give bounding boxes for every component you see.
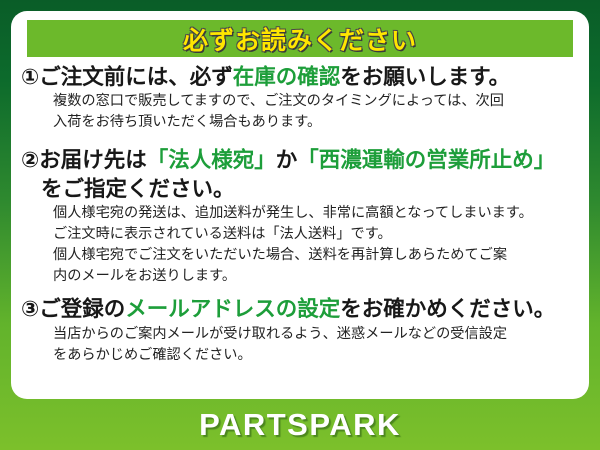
item-2-heading: ②お届け先は「法人様宛」か「西濃運輸の営業所止め」 — [11, 146, 589, 174]
notice-content: ①ご注文前には、必ず在庫の確認をお願いします。 複数の窓口で販売してますので、ご… — [11, 63, 589, 366]
notice-item-2: ②お届け先は「法人様宛」か「西濃運輸の営業所止め」 をご指定ください。 個人様宅… — [11, 146, 589, 286]
item-2-body-line-1: 個人様宅宛の発送は、追加送料が発生し、非常に高額となってしまいます。 — [11, 203, 589, 224]
item-3-heading-highlight: メールアドレスの設定 — [125, 297, 340, 321]
spacer-1 — [11, 133, 589, 146]
item-1-heading-part-1: ①ご注文前には、必ず — [21, 65, 233, 89]
item-2-heading-highlight-1: 「法人様宛」 — [147, 148, 276, 172]
spacer-2 — [11, 286, 589, 295]
item-2-heading-part-1: ②お届け先は — [21, 148, 147, 172]
notice-banner: 必ずお読みください ①ご注文前には、必ず在庫の確認をお願いします。 複数の窓口で… — [0, 0, 600, 450]
item-2-body-line-4: 内のメールをお送りします。 — [11, 266, 589, 287]
item-1-body-line-2: 入荷をお待ち頂いただく場合もあります。 — [11, 112, 589, 133]
footer-logo-area: PARTSPARK — [0, 399, 600, 450]
item-2-body-line-2: ご注文時に表示されている送料は「法人送料」です。 — [11, 224, 589, 245]
item-3-heading-part-3: をお確かめください。 — [340, 297, 555, 321]
item-1-body-line-1: 複数の窓口で販売してますので、ご注文のタイミングによっては、次回 — [11, 91, 589, 112]
item-1-heading-part-3: をお願いします。 — [340, 65, 510, 89]
item-3-body-line-2: をあらかじめご確認ください。 — [11, 345, 589, 366]
partspark-logo: PARTSPARK — [199, 407, 401, 443]
notice-item-1: ①ご注文前には、必ず在庫の確認をお願いします。 複数の窓口で販売してますので、ご… — [11, 63, 589, 133]
item-1-heading: ①ご注文前には、必ず在庫の確認をお願いします。 — [11, 63, 589, 91]
item-3-heading: ③ご登録のメールアドレスの設定をお確かめください。 — [11, 295, 589, 323]
header-bar: 必ずお読みください — [27, 20, 573, 57]
notice-card: 必ずお読みください ①ご注文前には、必ず在庫の確認をお願いします。 複数の窓口で… — [11, 11, 589, 399]
item-2-body-line-3: 個人様宅宛でご注文をいただいた場合、送料を再計算しあらためてご案 — [11, 245, 589, 266]
page-title: 必ずお読みください — [183, 21, 417, 57]
item-2-heading-part-3: か — [276, 148, 298, 172]
item-2-heading-highlight-2: 「西濃運輸の営業所止め」 — [297, 148, 555, 172]
item-3-heading-part-1: ③ご登録の — [21, 297, 125, 321]
notice-item-3: ③ご登録のメールアドレスの設定をお確かめください。 当店からのご案内メールが受け… — [11, 295, 589, 365]
item-3-body-line-1: 当店からのご案内メールが受け取れるよう、迷惑メールなどの受信設定 — [11, 324, 589, 345]
item-1-heading-highlight: 在庫の確認 — [233, 65, 341, 89]
item-2-heading-line-2: をご指定ください。 — [11, 175, 589, 203]
